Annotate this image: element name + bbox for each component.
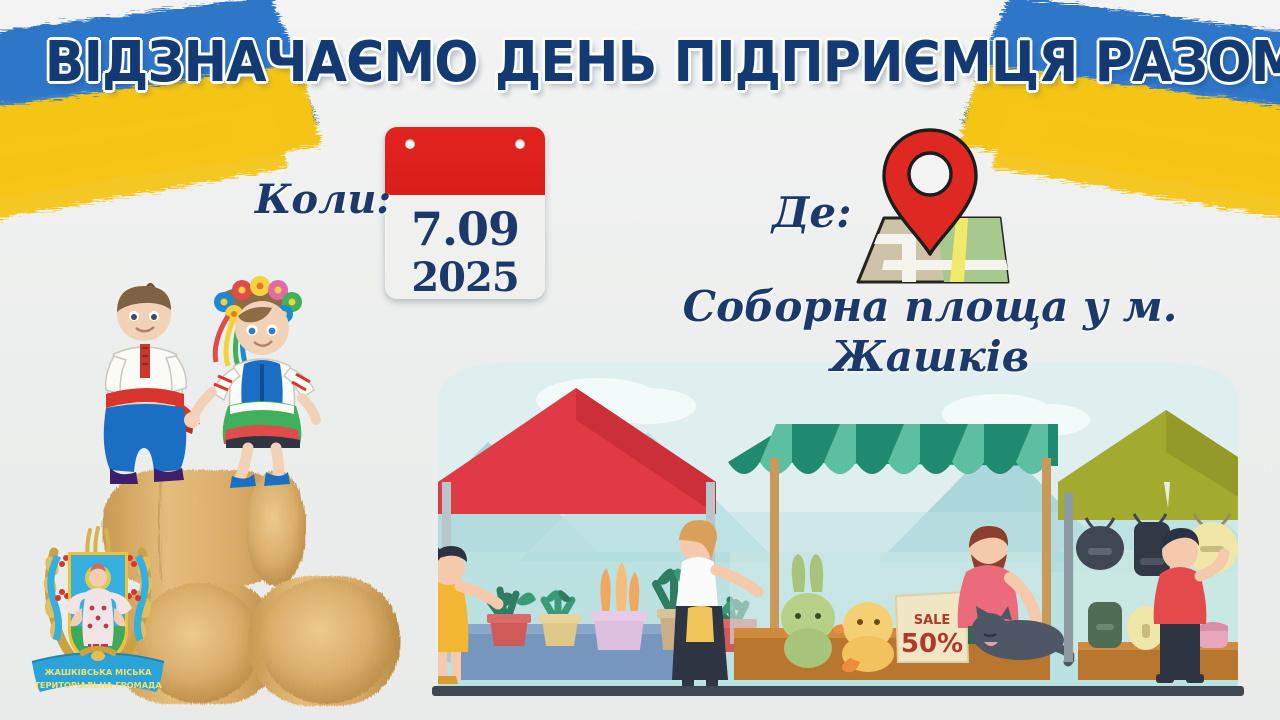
dancer-boy — [104, 284, 200, 484]
dancer-girl — [184, 276, 316, 488]
hay-bale-right — [248, 576, 400, 706]
emblem-ribbon-line-2: ТЕРИТОРІАЛЬНА ГРОМАДА — [34, 680, 162, 690]
sale-sign-label-2: 50% — [901, 629, 963, 659]
map-pin-icon — [840, 122, 1020, 290]
market-backdrop: SALE 50% — [398, 362, 1280, 700]
ground-line — [432, 686, 1244, 696]
when-label: Коли: — [255, 178, 391, 222]
calendar-eyelet-left — [405, 139, 415, 149]
where-label: Де: — [772, 190, 852, 236]
event-year: 2025 — [385, 255, 545, 299]
emblem-ribbon-line-1: ЖАШКІВСЬКА МІСЬКА — [44, 667, 152, 677]
page-title: ВІДЗНАЧАЄМО ДЕНЬ ПІДПРИЄМЦЯ РАЗОМ! — [45, 34, 1235, 92]
sale-sign-label-1: SALE — [914, 613, 951, 628]
coat-of-arms: ЖАШКІВСЬКА МІСЬКА ТЕРИТОРІАЛЬНА ГРОМАДА — [24, 522, 172, 704]
event-address: Соборна площа у м. Жашків — [620, 282, 1240, 382]
calendar-header — [385, 127, 545, 195]
sale-sign: SALE 50% — [896, 592, 968, 662]
market-illustration: SALE 50% — [398, 362, 1280, 720]
calendar-eyelet-right — [515, 139, 525, 149]
calendar-body: 7.09 2025 — [385, 195, 545, 299]
poster-canvas: ВІДЗНАЧАЄМО ДЕНЬ ПІДПРИЄМЦЯ РАЗОМ! Коли:… — [0, 0, 1280, 720]
calendar-icon: 7.09 2025 — [385, 127, 545, 299]
when-section: Коли: — [255, 178, 391, 222]
ukrainian-folk-dancers — [92, 272, 332, 500]
event-day: 7.09 — [385, 203, 545, 255]
potted-plant — [539, 590, 581, 646]
